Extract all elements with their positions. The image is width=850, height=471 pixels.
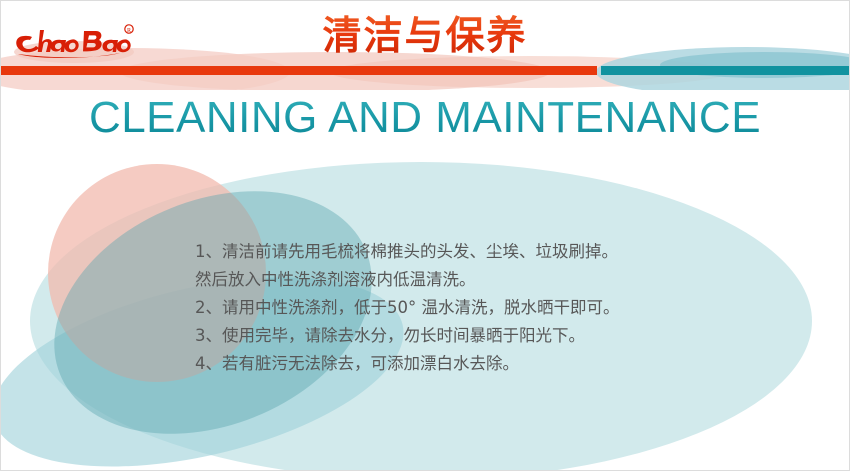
page-title-english: CLEANING AND MAINTENANCE [0,93,850,143]
instruction-line-1: 1、清洁前请先用毛梳将棉推头的头发、尘埃、垃圾刷掉。 [195,238,795,266]
slide-border-left [0,0,1,471]
instruction-line-2: 2、请用中性洗涤剂，低于50° 温水清洗，脱水晒干即可。 [195,294,795,322]
slide-border-top [0,0,850,1]
page-title-chinese: 清洁与保养 [0,14,850,60]
instruction-line-1-continued: 然后放入中性洗涤剂溶液内低温清洗。 [195,266,795,294]
maintenance-instructions-list: 1、清洁前请先用毛梳将棉推头的头发、尘埃、垃圾刷掉。 然后放入中性洗涤剂溶液内低… [195,238,795,378]
instruction-line-3: 3、使用完毕，请除去水分，勿长时间暴晒于阳光下。 [195,322,795,350]
header-teal-rule [601,66,850,75]
header-red-rule [0,66,597,75]
slide-canvas: 1、清洁前请先用毛梳将棉推头的头发、尘埃、垃圾刷掉。 然后放入中性洗涤剂溶液内低… [0,0,850,471]
instruction-line-4: 4、若有脏污无法除去，可添加漂白水去除。 [195,350,795,378]
